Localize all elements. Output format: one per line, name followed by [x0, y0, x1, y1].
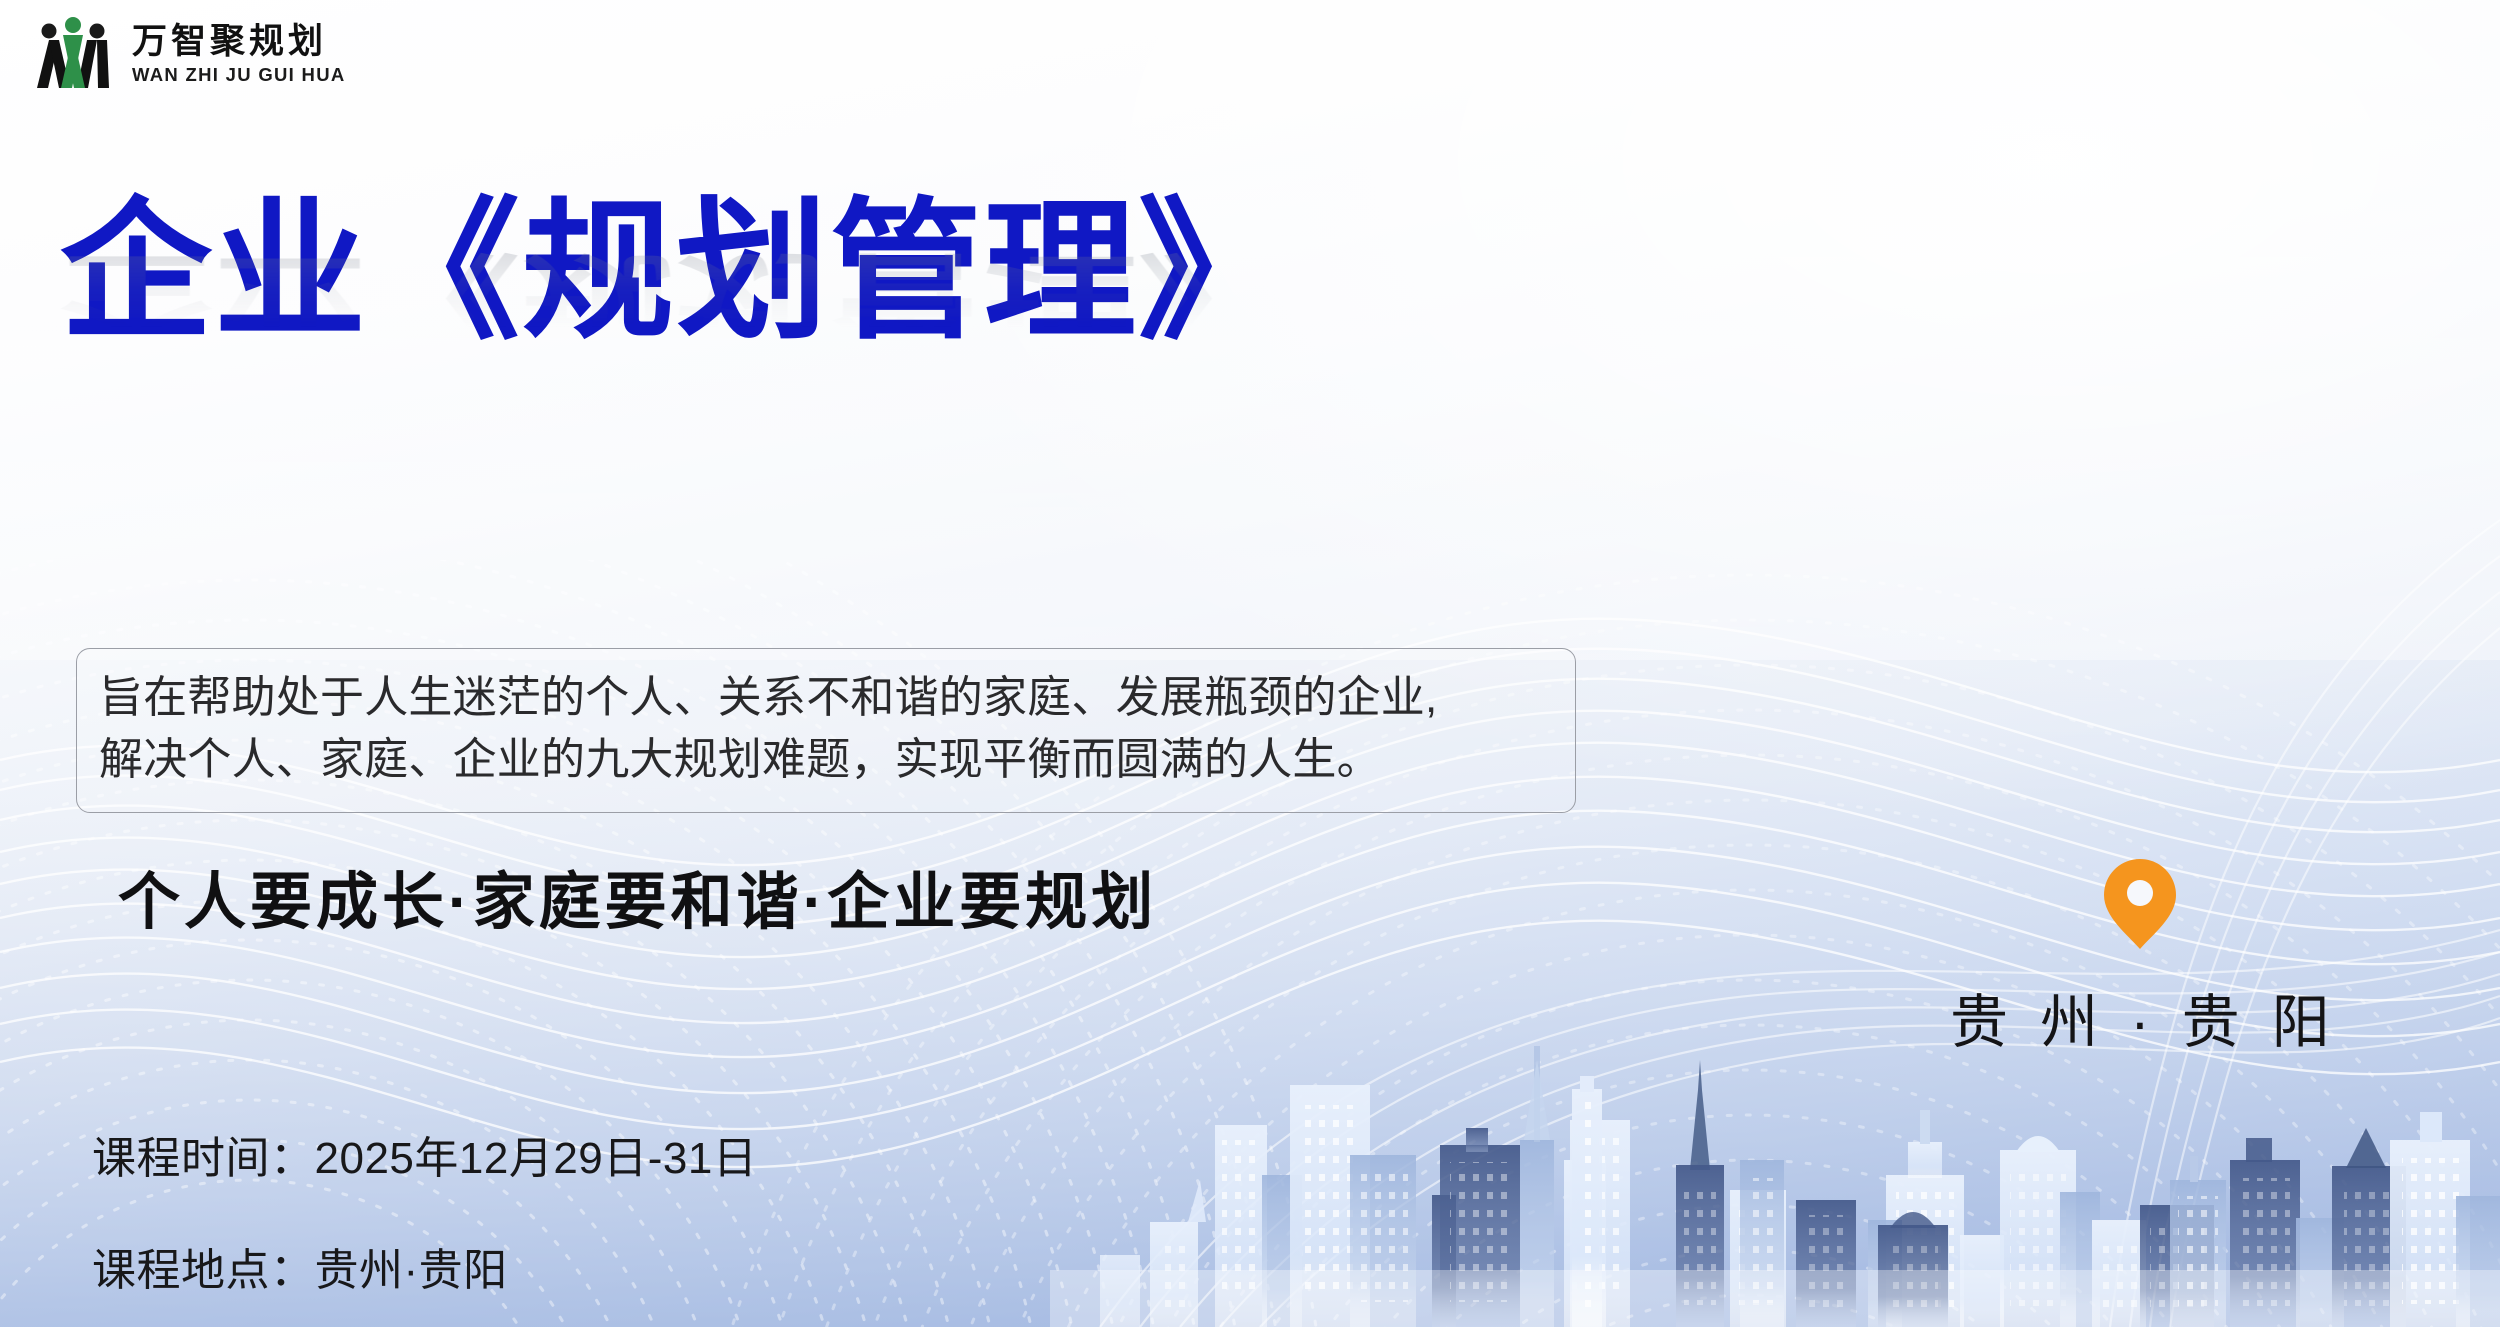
- course-place-row: 课程地点：贵州·贵阳: [92, 1234, 757, 1298]
- location-badge: 贵 州 · 贵 阳: [1950, 855, 2330, 1059]
- tagline: 个人要成长·家庭要和谐·企业要规划: [118, 851, 1157, 941]
- hero-title-block: 企业《规划管理》 企业《规划管理》: [60, 196, 1292, 494]
- brand-name-cn: 万智聚规划: [132, 24, 346, 59]
- brand-logo-text: 万智聚规划 WAN ZHI JU GUI HUA: [132, 24, 346, 85]
- map-pin-icon: [2096, 855, 2184, 953]
- description-line-2: 解决个人、家庭、企业的九大规划难题，实现平衡而圆满的人生。: [99, 729, 1553, 791]
- page-title-reflection: 企业《规划管理》: [60, 248, 1292, 342]
- three-people-group-icon: [28, 14, 118, 94]
- description-line-1: 旨在帮助处于人生迷茫的个人、关系不和谐的家庭、发展瓶颈的企业,: [99, 667, 1553, 729]
- brand-name-pinyin: WAN ZHI JU GUI HUA: [132, 66, 346, 85]
- description-box: 旨在帮助处于人生迷茫的个人、关系不和谐的家庭、发展瓶颈的企业, 解决个人、家庭、…: [76, 648, 1576, 813]
- location-badge-label: 贵 州 · 贵 阳: [1950, 975, 2330, 1059]
- brand-logo[interactable]: 万智聚规划 WAN ZHI JU GUI HUA: [28, 14, 346, 94]
- poster-canvas: 万智聚规划 WAN ZHI JU GUI HUA 企业《规划管理》 企业《规划管…: [0, 0, 2500, 1327]
- course-info-block: 课程时间：2025年12月29日-31日 课程地点：贵州·贵阳: [92, 1122, 757, 1298]
- course-time-row: 课程时间：2025年12月29日-31日: [92, 1122, 757, 1186]
